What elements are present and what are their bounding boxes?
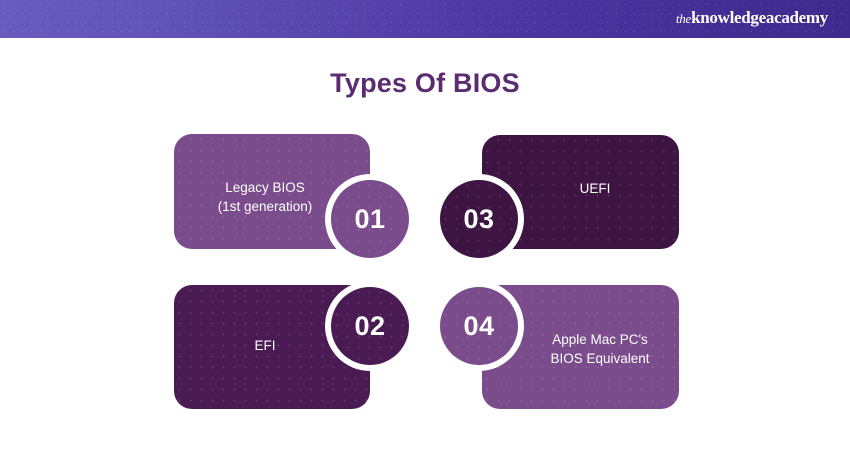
card-label-04: Apple Mac PC's BIOS Equivalent [520, 330, 679, 368]
number-badge-03-text: 03 [463, 204, 494, 235]
number-badge-04-text: 04 [463, 311, 494, 342]
types-of-bios-diagram: Legacy BIOS (1st generation) EFI UEFI Ap… [0, 0, 850, 450]
card-label-02: EFI [190, 336, 340, 355]
number-badge-02[interactable]: 02 [331, 287, 409, 365]
number-badge-03[interactable]: 03 [440, 180, 518, 258]
number-badge-04[interactable]: 04 [440, 287, 518, 365]
brand-prefix-text: the [676, 11, 691, 26]
number-badge-01-text: 01 [354, 204, 385, 235]
brand-name-text: knowledgeacademy [691, 8, 828, 27]
card-label-01: Legacy BIOS (1st generation) [190, 178, 340, 216]
brand-logo[interactable]: theknowledgeacademy [676, 7, 828, 30]
number-badge-01[interactable]: 01 [331, 180, 409, 258]
card-label-03: UEFI [520, 179, 670, 198]
number-badge-02-text: 02 [354, 311, 385, 342]
